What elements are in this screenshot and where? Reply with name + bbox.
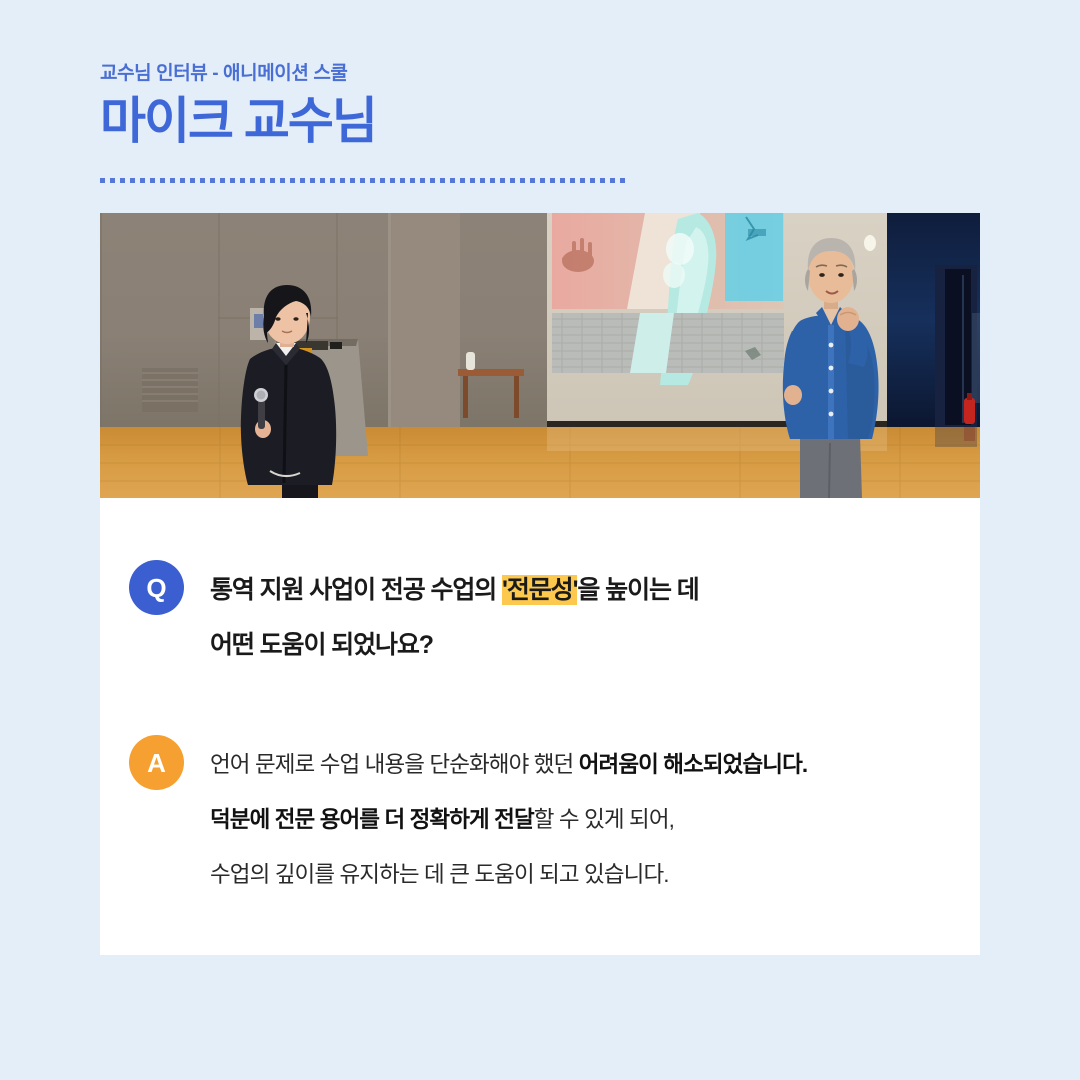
answer-line-1: 언어 문제로 수업 내용을 단순화해야 했던 어려움이 해소되었습니다. xyxy=(210,737,970,792)
question-highlight: '전문성' xyxy=(502,575,577,605)
answer-line-3: 수업의 깊이를 유지하는 데 큰 도움이 되고 있습니다. xyxy=(210,847,970,902)
question-segment-3: 을 높이는 데 xyxy=(577,576,698,604)
answer-segment-2: 어려움이 해소되었습니다. xyxy=(579,752,808,777)
lecture-photo xyxy=(100,213,980,498)
question-line-1: 통역 지원 사업이 전공 수업의 '전문성'을 높이는 데 xyxy=(210,563,970,618)
answer-text: 언어 문제로 수업 내용을 단순화해야 했던 어려움이 해소되었습니다. 덕분에… xyxy=(210,737,970,902)
question-segment-1: 통역 지원 사업이 전공 수업의 xyxy=(210,576,502,604)
question-line-2: 어떤 도움이 되었나요? xyxy=(210,618,970,673)
answer-badge: A xyxy=(129,735,184,790)
page-title: 마이크 교수님 xyxy=(100,93,980,149)
lecture-photo-illustration xyxy=(100,213,980,498)
answer-segment-3: 덕분에 전문 용어를 더 정확하게 전달 xyxy=(210,807,534,832)
page-header: 교수님 인터뷰 - 애니메이션 스쿨 마이크 교수님 xyxy=(100,62,980,149)
answer-line-2: 덕분에 전문 용어를 더 정확하게 전달할 수 있게 되어, xyxy=(210,792,970,847)
qa-card: Q 통역 지원 사업이 전공 수업의 '전문성'을 높이는 데 어떤 도움이 되… xyxy=(100,498,980,955)
answer-segment-4: 할 수 있게 되어, xyxy=(534,807,674,832)
answer-segment-1: 언어 문제로 수업 내용을 단순화해야 했던 xyxy=(210,752,579,777)
question-text: 통역 지원 사업이 전공 수업의 '전문성'을 높이는 데 어떤 도움이 되었나… xyxy=(210,563,970,673)
dotted-divider xyxy=(100,178,627,183)
eyebrow-label: 교수님 인터뷰 - 애니메이션 스쿨 xyxy=(100,62,980,87)
question-badge: Q xyxy=(129,560,184,615)
